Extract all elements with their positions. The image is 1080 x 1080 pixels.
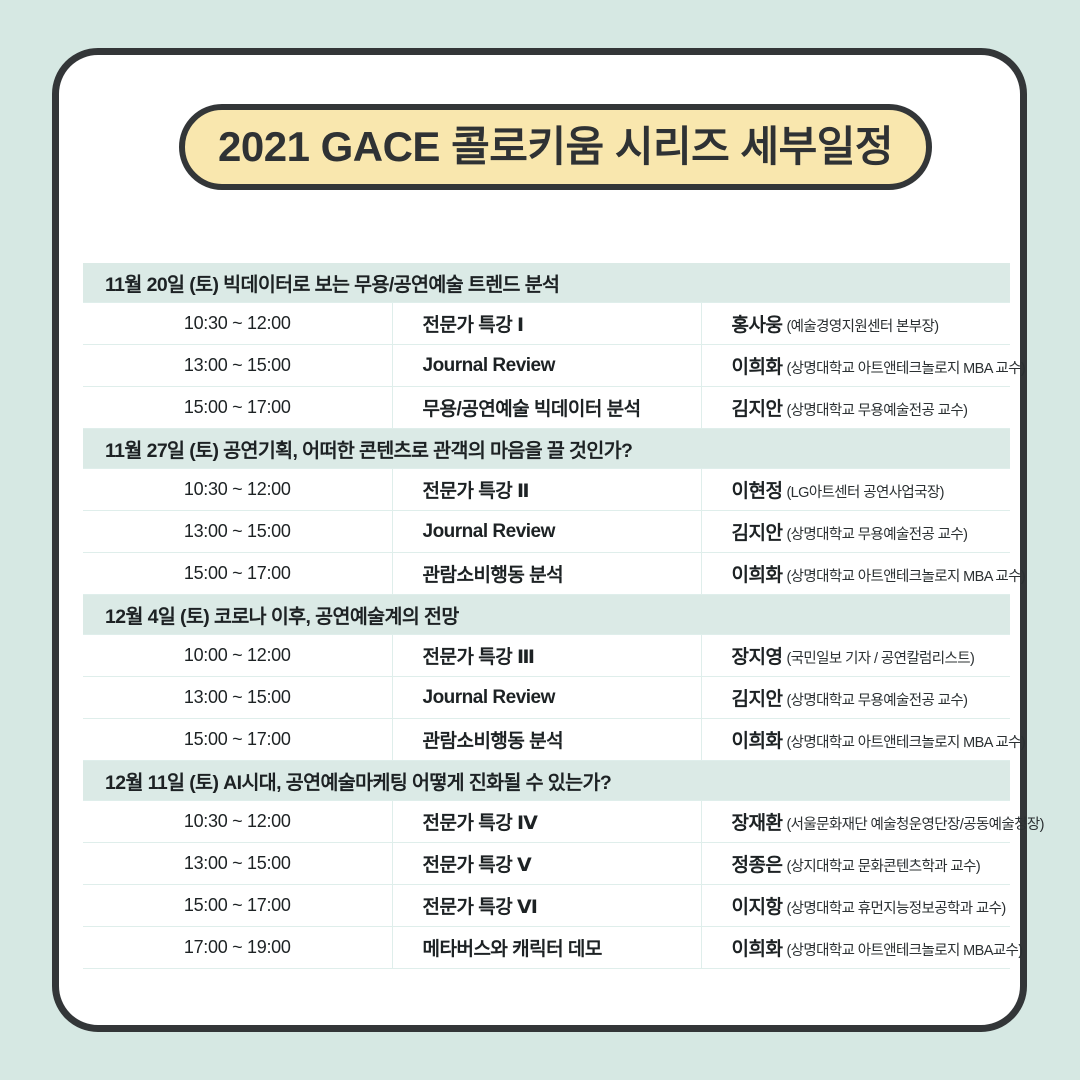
schedule-section-header: 12월 11일 (토) AI시대, 공연예술마케팅 어떻게 진화될 수 있는가? [83, 761, 1010, 801]
table-row: 10:00 ~ 12:00전문가 특강 Ⅲ장지영(국민일보 기자 / 공연칼럼리… [83, 635, 1010, 677]
speaker-name: 김지안 [732, 523, 783, 544]
session-time: 13:00 ~ 15:00 [83, 511, 392, 553]
speaker-affiliation: (서울문화재단 예술청운영단장/공동예술청장) [786, 817, 1043, 833]
speaker-name: 김지안 [732, 689, 783, 710]
speaker-affiliation: (LG아트센터 공연사업국장) [786, 485, 943, 501]
session-topic: Journal Review [392, 345, 701, 387]
speaker-affiliation: (국민일보 기자 / 공연칼럼리스트) [786, 651, 974, 667]
session-speaker: 장재환(서울문화재단 예술청운영단장/공동예술청장) [701, 801, 1010, 843]
section-header-label: 11월 27일 (토) 공연기획, 어떠한 콘텐츠로 관객의 마음을 끌 것인가… [83, 429, 1010, 469]
session-topic: 전문가 특강 Ⅵ [392, 885, 701, 927]
poster-root: 2021 GACE 콜로키움 시리즈 세부일정 11월 20일 (토) 빅데이터… [0, 0, 1080, 1080]
speaker-affiliation: (상명대학교 아트앤테크놀로지 MBA 교수) [786, 361, 1025, 377]
table-row: 13:00 ~ 15:00전문가 특강 Ⅴ정종은(상지대학교 문화콘텐츠학과 교… [83, 843, 1010, 885]
session-topic: Journal Review [392, 511, 701, 553]
session-speaker: 김지안(상명대학교 무용예술전공 교수) [701, 387, 1010, 429]
session-time: 15:00 ~ 17:00 [83, 719, 392, 761]
section-header-label: 12월 11일 (토) AI시대, 공연예술마케팅 어떻게 진화될 수 있는가? [83, 761, 1010, 801]
session-topic: 전문가 특강 Ⅳ [392, 801, 701, 843]
table-row: 13:00 ~ 15:00Journal Review이희화(상명대학교 아트앤… [83, 345, 1010, 387]
session-speaker: 김지안(상명대학교 무용예술전공 교수) [701, 511, 1010, 553]
session-time: 10:30 ~ 12:00 [83, 303, 392, 345]
session-time: 10:00 ~ 12:00 [83, 635, 392, 677]
session-topic: Journal Review [392, 677, 701, 719]
table-row: 15:00 ~ 17:00관람소비행동 분석이희화(상명대학교 아트앤테크놀로지… [83, 719, 1010, 761]
schedule-body: 11월 20일 (토) 빅데이터로 보는 무용/공연예술 트렌드 분석10:30… [83, 263, 1010, 969]
speaker-name: 이희화 [732, 357, 783, 378]
speaker-affiliation: (상명대학교 아트앤테크놀로지 MBA교수) [786, 943, 1022, 959]
speaker-name: 이지항 [732, 897, 783, 918]
table-row: 13:00 ~ 15:00Journal Review김지안(상명대학교 무용예… [83, 677, 1010, 719]
poster-card: 2021 GACE 콜로키움 시리즈 세부일정 11월 20일 (토) 빅데이터… [52, 48, 1027, 1032]
table-row: 10:30 ~ 12:00전문가 특강 Ⅰ홍사웅(예술경영지원센터 본부장) [83, 303, 1010, 345]
speaker-affiliation: (상명대학교 무용예술전공 교수) [786, 693, 967, 709]
section-header-label: 12월 4일 (토) 코로나 이후, 공연예술계의 전망 [83, 595, 1010, 635]
table-row: 15:00 ~ 17:00관람소비행동 분석이희화(상명대학교 아트앤테크놀로지… [83, 553, 1010, 595]
session-time: 13:00 ~ 15:00 [83, 677, 392, 719]
speaker-affiliation: (예술경영지원센터 본부장) [786, 319, 938, 335]
session-speaker: 홍사웅(예술경영지원센터 본부장) [701, 303, 1010, 345]
speaker-affiliation: (상명대학교 휴먼지능정보공학과 교수) [786, 901, 1005, 917]
speaker-name: 이현정 [732, 481, 783, 502]
speaker-name: 장재환 [732, 813, 783, 834]
session-time: 13:00 ~ 15:00 [83, 345, 392, 387]
table-row: 10:30 ~ 12:00전문가 특강 Ⅱ이현정(LG아트센터 공연사업국장) [83, 469, 1010, 511]
schedule-section-header: 12월 4일 (토) 코로나 이후, 공연예술계의 전망 [83, 595, 1010, 635]
section-header-label: 11월 20일 (토) 빅데이터로 보는 무용/공연예술 트렌드 분석 [83, 263, 1010, 303]
session-speaker: 김지안(상명대학교 무용예술전공 교수) [701, 677, 1010, 719]
session-speaker: 이희화(상명대학교 아트앤테크놀로지 MBA 교수) [701, 345, 1010, 387]
session-topic: 무용/공연예술 빅데이터 분석 [392, 387, 701, 429]
speaker-affiliation: (상명대학교 무용예술전공 교수) [786, 403, 967, 419]
page-title: 2021 GACE 콜로키움 시리즈 세부일정 [218, 126, 893, 168]
session-topic: 전문가 특강 Ⅲ [392, 635, 701, 677]
session-speaker: 이희화(상명대학교 아트앤테크놀로지 MBA 교수) [701, 553, 1010, 595]
speaker-name: 이희화 [732, 731, 783, 752]
speaker-affiliation: (상명대학교 아트앤테크놀로지 MBA 교수) [786, 569, 1025, 585]
session-topic: 전문가 특강 Ⅰ [392, 303, 701, 345]
session-time: 13:00 ~ 15:00 [83, 843, 392, 885]
schedule-table: 11월 20일 (토) 빅데이터로 보는 무용/공연예술 트렌드 분석10:30… [83, 263, 1010, 969]
speaker-name: 이희화 [732, 565, 783, 586]
table-row: 15:00 ~ 17:00무용/공연예술 빅데이터 분석김지안(상명대학교 무용… [83, 387, 1010, 429]
session-topic: 전문가 특강 Ⅱ [392, 469, 701, 511]
table-row: 10:30 ~ 12:00전문가 특강 Ⅳ장재환(서울문화재단 예술청운영단장/… [83, 801, 1010, 843]
speaker-affiliation: (상명대학교 무용예술전공 교수) [786, 527, 967, 543]
session-topic: 관람소비행동 분석 [392, 719, 701, 761]
session-speaker: 장지영(국민일보 기자 / 공연칼럼리스트) [701, 635, 1010, 677]
table-row: 17:00 ~ 19:00메타버스와 캐릭터 데모이희화(상명대학교 아트앤테크… [83, 927, 1010, 969]
speaker-name: 홍사웅 [732, 315, 783, 336]
session-time: 10:30 ~ 12:00 [83, 801, 392, 843]
session-topic: 관람소비행동 분석 [392, 553, 701, 595]
session-speaker: 이희화(상명대학교 아트앤테크놀로지 MBA교수) [701, 927, 1010, 969]
session-speaker: 이지항(상명대학교 휴먼지능정보공학과 교수) [701, 885, 1010, 927]
session-time: 10:30 ~ 12:00 [83, 469, 392, 511]
schedule-section-header: 11월 20일 (토) 빅데이터로 보는 무용/공연예술 트렌드 분석 [83, 263, 1010, 303]
session-speaker: 이현정(LG아트센터 공연사업국장) [701, 469, 1010, 511]
table-row: 13:00 ~ 15:00Journal Review김지안(상명대학교 무용예… [83, 511, 1010, 553]
session-topic: 메타버스와 캐릭터 데모 [392, 927, 701, 969]
title-pill: 2021 GACE 콜로키움 시리즈 세부일정 [179, 104, 932, 190]
session-topic: 전문가 특강 Ⅴ [392, 843, 701, 885]
speaker-affiliation: (상지대학교 문화콘텐츠학과 교수) [786, 859, 980, 875]
session-speaker: 정종은(상지대학교 문화콘텐츠학과 교수) [701, 843, 1010, 885]
schedule-section-header: 11월 27일 (토) 공연기획, 어떠한 콘텐츠로 관객의 마음을 끌 것인가… [83, 429, 1010, 469]
session-time: 15:00 ~ 17:00 [83, 553, 392, 595]
session-speaker: 이희화(상명대학교 아트앤테크놀로지 MBA 교수) [701, 719, 1010, 761]
session-time: 15:00 ~ 17:00 [83, 387, 392, 429]
session-time: 15:00 ~ 17:00 [83, 885, 392, 927]
speaker-name: 김지안 [732, 399, 783, 420]
speaker-name: 장지영 [732, 647, 783, 668]
session-time: 17:00 ~ 19:00 [83, 927, 392, 969]
table-row: 15:00 ~ 17:00전문가 특강 Ⅵ이지항(상명대학교 휴먼지능정보공학과… [83, 885, 1010, 927]
speaker-name: 정종은 [732, 855, 783, 876]
speaker-affiliation: (상명대학교 아트앤테크놀로지 MBA 교수) [786, 735, 1025, 751]
speaker-name: 이희화 [732, 939, 783, 960]
